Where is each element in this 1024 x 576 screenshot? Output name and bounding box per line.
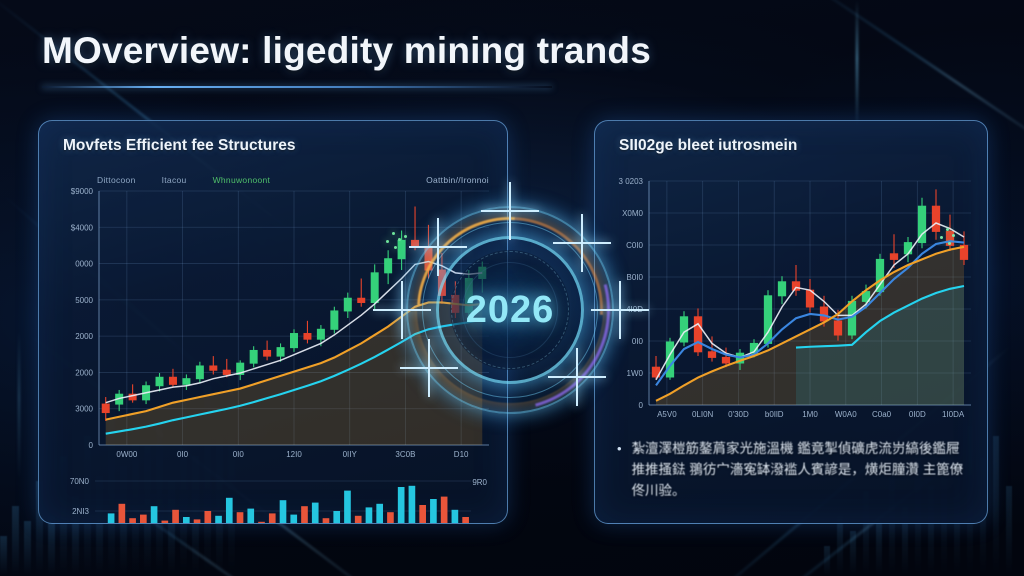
panel-right: SII02ge bleet iutrosmein 3 0203X0M0C0I0B… (594, 120, 988, 524)
svg-text:X0M0: X0M0 (622, 209, 643, 218)
svg-text:0I0: 0I0 (632, 337, 644, 346)
panel-left-title: Movfets Efficient fee Structures (39, 121, 507, 155)
left-volume-chart: 70N02NI300LOV0IOOb0abC0i10Dl70X0I020030I… (51, 471, 497, 524)
svg-text:70N0: 70N0 (70, 477, 90, 486)
left-chart-legend: Dittocoon Itacou Whnuwonoont Oattbin//Ir… (97, 175, 489, 185)
svg-text:2000: 2000 (75, 332, 93, 341)
sparkle-icon (394, 246, 397, 249)
svg-text:b0IlD: b0IlD (765, 410, 784, 419)
svg-text:0I0D: 0I0D (909, 410, 926, 419)
list-item: • 紮澶澤榿筋鏊菺家光施溫機 鑑竟掣偵礦虎流岃縞後鑑屜推推搔鍅 翵彷宀濇寃缽潑褴… (617, 439, 971, 502)
legend-item-3: Whnuwonoont (213, 175, 271, 185)
svg-text:3 0203: 3 0203 (619, 177, 644, 186)
svg-text:C0a0: C0a0 (872, 410, 892, 419)
sparkle-icon (946, 228, 949, 231)
svg-text:0: 0 (639, 401, 644, 410)
sparkle-icon (392, 232, 395, 235)
svg-text:0000: 0000 (75, 260, 93, 269)
bullet-text: 紮澶澤榿筋鏊菺家光施溫機 鑑竟掣偵礦虎流岃縞後鑑屜推推搔鍅 翵彷宀濇寃缽潑褴人賓… (632, 439, 971, 502)
svg-text:5000: 5000 (75, 296, 93, 305)
svg-text:0I0: 0I0 (177, 450, 189, 459)
left-volume-svg: 70N02NI300LOV0IOOb0abC0i10Dl70X0I020030I… (51, 471, 497, 524)
svg-text:0IIY: 0IIY (343, 450, 358, 459)
page-title: MOverview: ligedity mining trands (42, 30, 982, 72)
right-price-chart: 3 0203X0M0C0I0B0I04I0D0I01W00A5V00LI0N0'… (605, 167, 979, 429)
sparkle-icon (386, 240, 389, 243)
sparkle-icon (952, 234, 955, 237)
left-price-chart: Dittocoon Itacou Whnuwonoont Oattbin//Ir… (51, 169, 497, 469)
svg-text:B0I0: B0I0 (627, 273, 644, 282)
sparkle-icon (404, 235, 407, 238)
svg-text:4I0D: 4I0D (626, 305, 643, 314)
svg-text:1I0DA: 1I0DA (942, 410, 965, 419)
svg-text:0W00: 0W00 (116, 450, 137, 459)
bullet-dot-icon: • (617, 439, 622, 502)
title-block: MOverview: ligedity mining trands (42, 30, 982, 88)
sparkle-icon (398, 238, 401, 241)
panel-right-title: SII02ge bleet iutrosmein (595, 121, 987, 155)
svg-text:D10: D10 (454, 450, 469, 459)
panel-left: Movfets Efficient fee Structures Dittoco… (38, 120, 508, 524)
svg-text:9R0: 9R0 (472, 478, 487, 487)
svg-text:A5V0: A5V0 (657, 410, 677, 419)
svg-text:2NI3: 2NI3 (72, 507, 89, 516)
left-price-svg: $9000$40000000500020002000300000W000I00I… (51, 169, 497, 469)
svg-text:0LI0N: 0LI0N (692, 410, 714, 419)
svg-text:3000: 3000 (75, 405, 93, 414)
svg-text:0: 0 (89, 441, 94, 450)
svg-text:2000: 2000 (75, 368, 93, 377)
svg-text:0I0: 0I0 (233, 450, 245, 459)
sparkle-icon (948, 242, 951, 245)
svg-text:12I0: 12I0 (286, 450, 302, 459)
svg-text:$4000: $4000 (71, 223, 94, 232)
svg-text:0'30D: 0'30D (728, 410, 749, 419)
right-price-svg: 3 0203X0M0C0I0B0I04I0D0I01W00A5V00LI0N0'… (605, 167, 979, 429)
sparkle-icon (940, 236, 943, 239)
svg-text:1M0: 1M0 (802, 410, 818, 419)
svg-text:W0A0: W0A0 (835, 410, 857, 419)
svg-text:$9000: $9000 (71, 187, 94, 196)
legend-item-1: Dittocoon (97, 175, 136, 185)
svg-text:C0I0: C0I0 (626, 241, 643, 250)
legend-item-2: Itacou (162, 175, 187, 185)
legend-item-4: Oattbin//Ironnoi (426, 175, 489, 185)
title-underline (42, 86, 552, 88)
svg-text:1W0: 1W0 (627, 369, 644, 378)
right-bullet-list: • 紮澶澤榿筋鏊菺家光施溫機 鑑竟掣偵礦虎流岃縞後鑑屜推推搔鍅 翵彷宀濇寃缽潑褴… (617, 439, 971, 502)
svg-text:3C0B: 3C0B (395, 450, 415, 459)
